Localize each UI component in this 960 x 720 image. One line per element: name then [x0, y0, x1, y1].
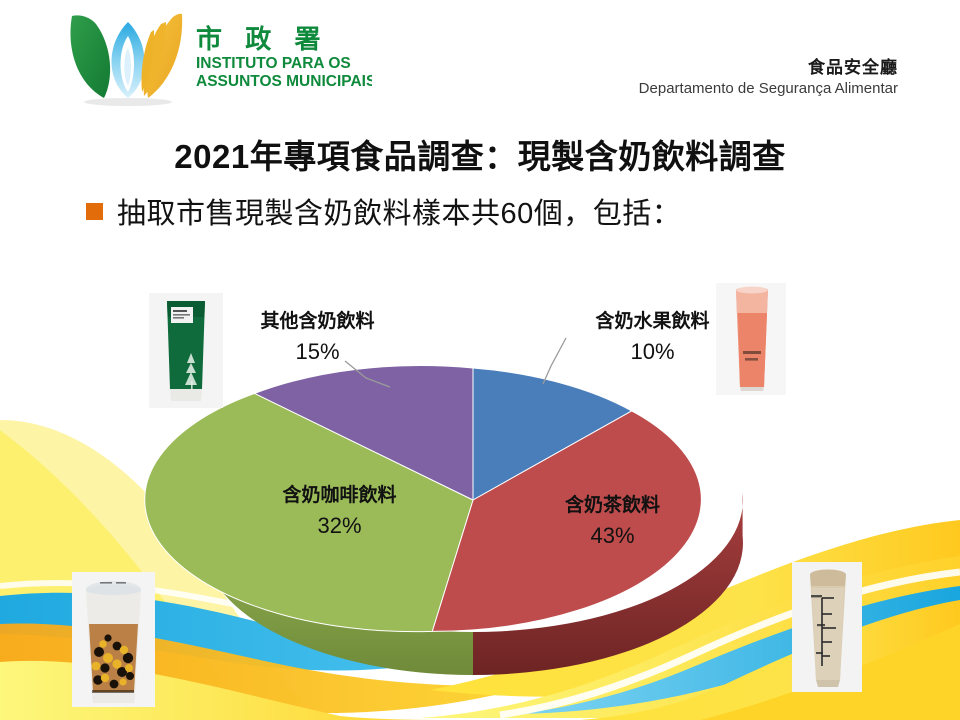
bullet-item: 抽取市售現製含奶飲料樣本共60個，包括： [86, 190, 681, 232]
pie-label-tea-name: 含奶茶飲料 [505, 492, 720, 520]
page-title: 2021年專項食品調查：現製含奶飲料調查 [0, 130, 960, 178]
bubble-tea-photo [72, 572, 155, 707]
department-title-pt: Departamento de Segurança Alimentar [639, 80, 898, 97]
pie-label-tea-value: 43% [505, 520, 720, 552]
pie-label-coffee-name: 含奶咖啡飲料 [232, 482, 447, 510]
iam-logo: 市 政 署 INSTITUTO PARA OS ASSUNTOS MUNICIP… [62, 6, 372, 110]
svg-text:INSTITUTO PARA OS: INSTITUTO PARA OS [196, 55, 351, 72]
green-cup-photo [149, 293, 223, 408]
bullet-item-label: 抽取市售現製含奶飲料樣本共60個，包括： [117, 190, 681, 232]
svg-text:ASSUNTOS MUNICIPAIS: ASSUNTOS MUNICIPAIS [196, 73, 372, 90]
pie-label-coffee-value: 32% [232, 510, 447, 542]
svg-text:市 政 署: 市 政 署 [196, 24, 328, 54]
bullet-square-icon [86, 203, 103, 220]
pie-label-tea: 含奶茶飲料 43% [505, 492, 720, 551]
department-title-zh: 食品安全廳 [639, 58, 898, 78]
department-title: 食品安全廳 Departamento de Segurança Alimenta… [639, 58, 898, 97]
pie-label-other-name: 其他含奶飲料 [210, 308, 425, 336]
slide-canvas: 其他含奶飲料 15% 含奶水果飲料 10% 含奶咖啡飲料 32% 含奶茶飲料 4… [0, 0, 960, 720]
pie-label-coffee: 含奶咖啡飲料 32% [232, 482, 447, 541]
pie-label-other-value: 15% [210, 336, 425, 368]
pink-fruit-drink-photo [716, 283, 786, 395]
milk-tea-cup-photo [792, 562, 862, 692]
pie-label-other: 其他含奶飲料 15% [210, 308, 425, 367]
